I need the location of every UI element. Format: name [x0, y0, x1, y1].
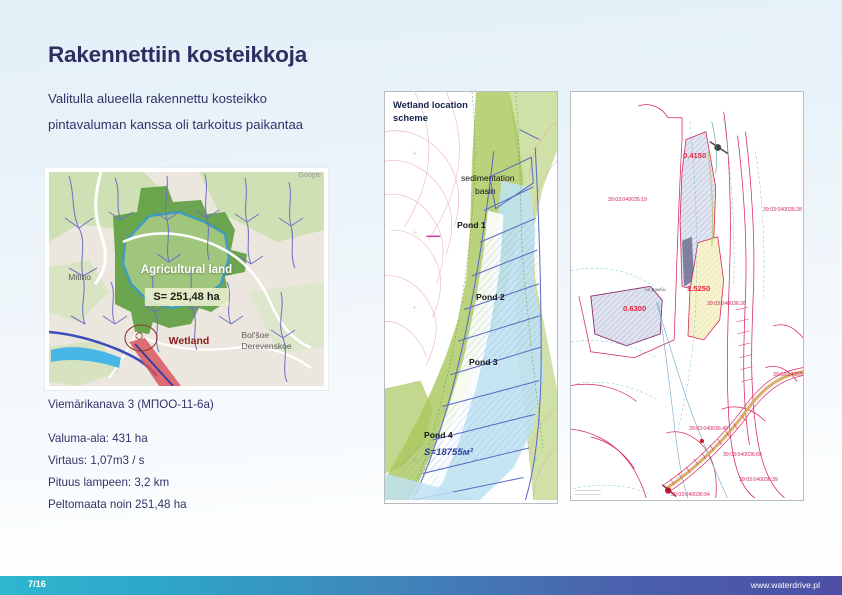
- map-place-bolsoe: Bol'šoe Derevenskoe: [242, 330, 292, 352]
- cadastral-parcel-id-0: 39:03:040035:19: [608, 197, 647, 203]
- wetland-scheme-figure[interactable]: Wetland location scheme sedimentation ba…: [384, 91, 558, 504]
- cadastral-note: на Дамбы: [645, 287, 666, 292]
- page-title: Rakennettiin kosteikkoja: [48, 42, 307, 68]
- scheme-label-pond-4: Pond 4: [424, 430, 453, 440]
- scheme-label-sedimentation-line2: basin: [475, 186, 496, 196]
- cadastral-parcel-id-2: 39:03:040036:28: [763, 207, 802, 213]
- subtitle-line-2: pintavaluman kanssa oli tarkoitus paikan…: [48, 112, 358, 138]
- fact-farmland: Peltomaata noin 251,48 ha: [48, 494, 187, 516]
- cadastral-parcel-id-6: 39:03:040036:40: [689, 426, 728, 432]
- scheme-label-area: S=18755м²: [424, 447, 473, 458]
- page-subtitle: Valitulla alueella rakennettu kosteikko …: [48, 86, 358, 138]
- cadastral-area-0: 0.4150: [683, 151, 706, 160]
- fact-length: Pituus lampeen: 3,2 km: [48, 472, 187, 494]
- subtitle-line-1: Valitulla alueella rakennettu kosteikko: [48, 86, 358, 112]
- facts-list: Valuma-ala: 431 ha Virtaus: 1,07m3 / s P…: [48, 428, 187, 516]
- cadastral-parcel-id-4: 39:03:040036:65: [723, 452, 762, 458]
- scheme-label-pond-2: Pond 2: [476, 292, 505, 302]
- fact-catchment-area: Valuma-ala: 431 ha: [48, 428, 187, 450]
- wetland-scheme-graphic: [385, 92, 557, 500]
- map-attribution: Google: [298, 172, 321, 179]
- map-label-area: S= 251,48 ha: [144, 288, 228, 306]
- map-place-bolsoe-line2: Derevenskoe: [242, 341, 292, 352]
- page-number: 7/16: [28, 579, 46, 589]
- cadastral-parcel-id-7: 39:03:040036:94: [671, 492, 710, 498]
- map-caption: Viemärikanava 3 (МПОО-11-6а): [48, 398, 214, 411]
- map-place-mitino: Mitino: [68, 272, 91, 282]
- scheme-title: Wetland location scheme: [393, 98, 503, 124]
- map-label-wetland: Wetland: [169, 335, 210, 347]
- scheme-label-pond-3: Pond 3: [469, 357, 498, 367]
- cadastral-area-1: 1.5250: [687, 284, 710, 293]
- overview-map-card[interactable]: Google Mitino Bol'šoe Derevenskoe Agricu…: [45, 168, 328, 390]
- cadastral-parcel-id-5: 39:03:040036:39: [739, 477, 778, 483]
- map-place-bolsoe-line1: Bol'šoe: [242, 330, 292, 341]
- cadastral-parcel-id-3b: 39:03:040035:1: [773, 372, 804, 378]
- cadastral-drawing-figure[interactable]: 0.4150 1.5250 0.6300 39:03:040035:19 39:…: [570, 91, 804, 501]
- footer-url[interactable]: www.waterdrive.pl: [751, 580, 820, 590]
- slide-root: Rakennettiin kosteikkoja Valitulla aluee…: [0, 0, 842, 595]
- overview-map: Google Mitino Bol'šoe Derevenskoe Agricu…: [49, 172, 324, 386]
- cadastral-parcel-id-1: 39:03:040036:26: [707, 301, 746, 307]
- fact-flow: Virtaus: 1,07m3 / s: [48, 450, 187, 472]
- scheme-label-sedimentation-line1: sedimentation: [461, 173, 515, 183]
- footer-bar: 7/16 www.waterdrive.pl: [0, 576, 842, 595]
- scheme-title-line2: scheme: [393, 112, 428, 123]
- map-label-agricultural-land: Agricultural land: [141, 264, 232, 276]
- scheme-label-pond-1: Pond 1: [457, 220, 486, 230]
- cadastral-area-2: 0.6300: [623, 304, 646, 313]
- scheme-title-line1: Wetland location: [393, 99, 468, 110]
